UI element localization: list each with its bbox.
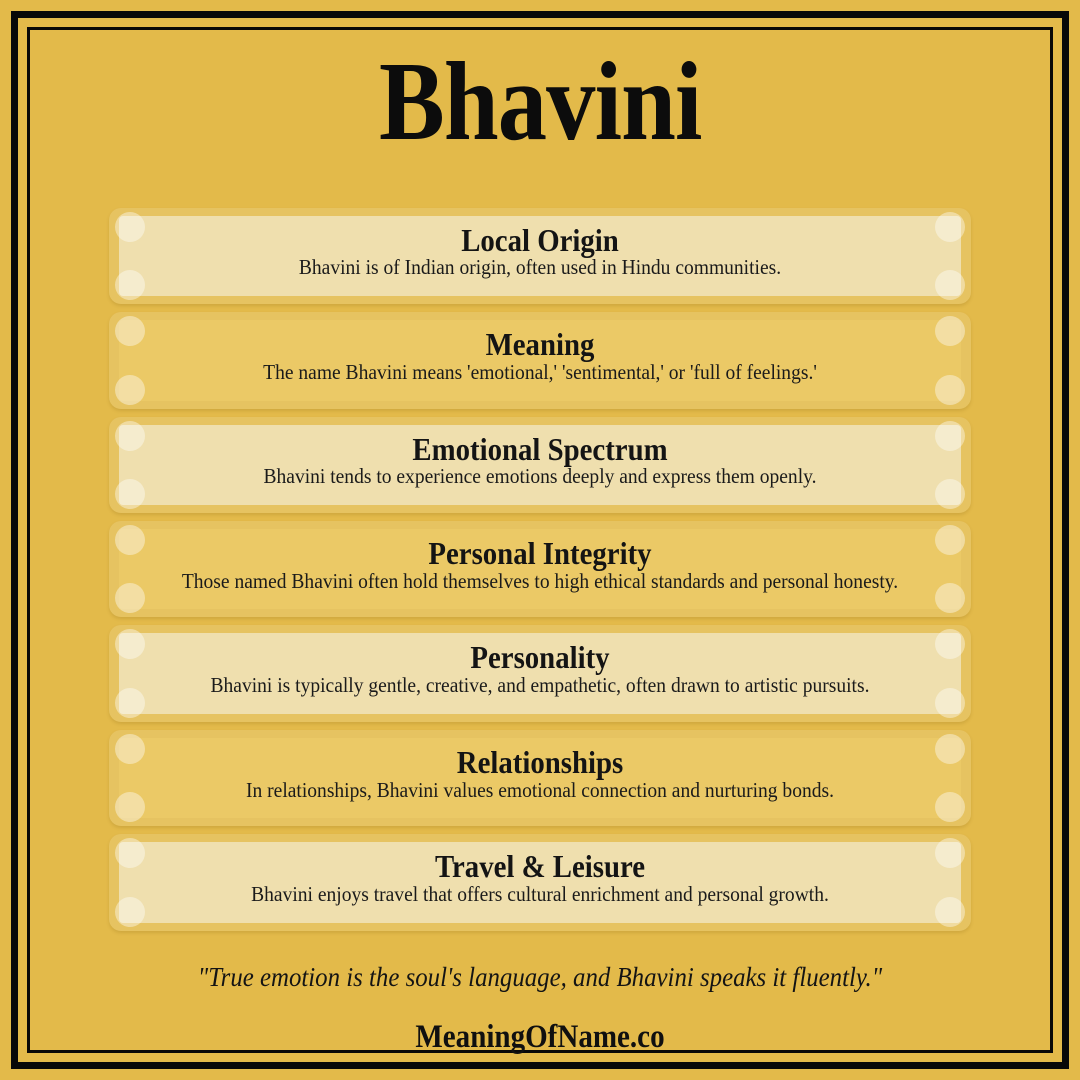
name-meaning-poster: Bhavini Local OriginBhavini is of Indian… bbox=[0, 0, 1080, 1080]
section-card: Personal IntegrityThose named Bhavini of… bbox=[109, 521, 971, 617]
section-card: Travel & LeisureBhavini enjoys travel th… bbox=[109, 834, 971, 930]
sections-list: Local OriginBhavini is of Indian origin,… bbox=[109, 208, 971, 931]
section-description: Bhavini tends to experience emotions dee… bbox=[173, 463, 908, 491]
section-card: MeaningThe name Bhavini means 'emotional… bbox=[109, 312, 971, 408]
poster-footer: "True emotion is the soul's language, an… bbox=[109, 961, 971, 1056]
page-title: Bhavini bbox=[379, 44, 702, 162]
section-card: Emotional SpectrumBhavini tends to exper… bbox=[109, 417, 971, 513]
section-description: Bhavini is of Indian origin, often used … bbox=[173, 254, 908, 282]
section-card-body: Travel & LeisureBhavini enjoys travel th… bbox=[119, 842, 961, 922]
section-card-body: Personal IntegrityThose named Bhavini of… bbox=[119, 529, 961, 609]
section-card-body: Local OriginBhavini is of Indian origin,… bbox=[119, 216, 961, 296]
section-card-body: PersonalityBhavini is typically gentle, … bbox=[119, 633, 961, 713]
poster-content: Bhavini Local OriginBhavini is of Indian… bbox=[38, 38, 1042, 1042]
section-description: Bhavini is typically gentle, creative, a… bbox=[173, 672, 908, 700]
section-card: Local OriginBhavini is of Indian origin,… bbox=[109, 208, 971, 304]
section-description: In relationships, Bhavini values emotion… bbox=[173, 777, 908, 805]
section-card-body: MeaningThe name Bhavini means 'emotional… bbox=[119, 320, 961, 400]
section-card: RelationshipsIn relationships, Bhavini v… bbox=[109, 730, 971, 826]
brand-name[interactable]: MeaningOfName.co bbox=[161, 1019, 920, 1055]
section-card-body: Emotional SpectrumBhavini tends to exper… bbox=[119, 425, 961, 505]
section-description: Bhavini enjoys travel that offers cultur… bbox=[173, 881, 908, 909]
section-description: The name Bhavini means 'emotional,' 'sen… bbox=[173, 359, 908, 387]
section-card-body: RelationshipsIn relationships, Bhavini v… bbox=[119, 738, 961, 818]
quote-text: "True emotion is the soul's language, an… bbox=[143, 961, 936, 993]
section-description: Those named Bhavini often hold themselve… bbox=[173, 568, 908, 596]
section-card: PersonalityBhavini is typically gentle, … bbox=[109, 625, 971, 721]
